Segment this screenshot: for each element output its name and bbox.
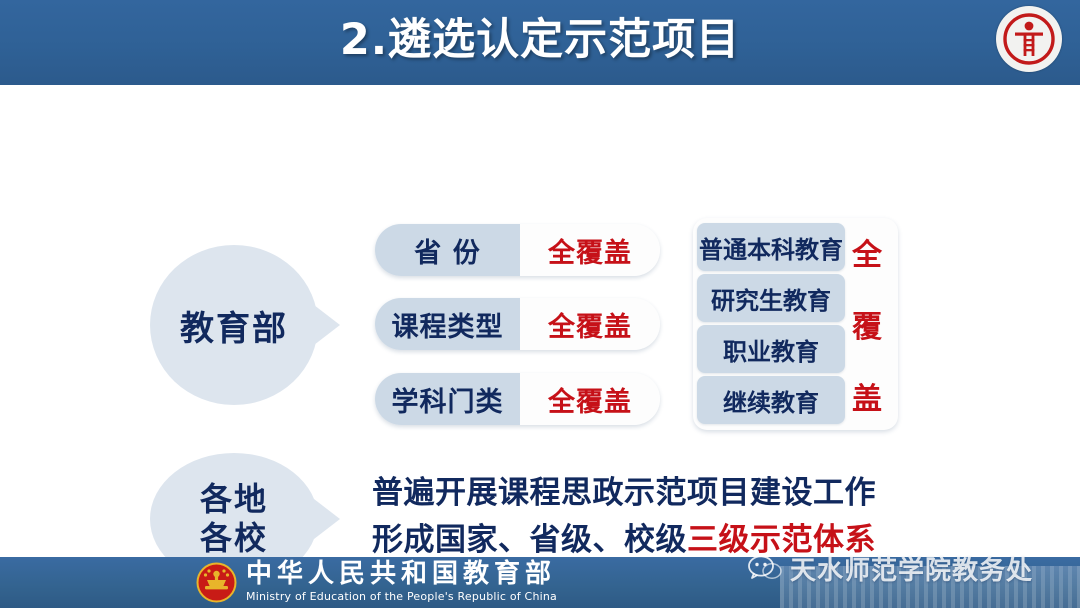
ministry-bubble-label: 教育部 <box>180 301 288 350</box>
footer-org-cn: 中华人民共和国教育部 <box>246 559 557 589</box>
slide-header-band: 2.遴选认定示范项目 <box>0 0 1080 85</box>
education-types-group: 普通本科教育 研究生教育 职业教育 继续教育 全 覆 盖 <box>693 218 898 430</box>
coverage-pill: 课程类型 全覆盖 <box>375 298 660 350</box>
slide-footer-band: 中华人民共和国教育部 Ministry of Education of the … <box>0 557 1080 608</box>
coverage-char: 盖 <box>852 374 882 418</box>
local-bubble-line1: 各地 <box>200 480 268 519</box>
coverage-pill: 学科门类 全覆盖 <box>375 373 660 425</box>
coverage-pill: 省 份 全覆盖 <box>375 224 660 276</box>
education-types-coverage-vertical: 全 覆 盖 <box>848 230 886 418</box>
coverage-pill-value: 全覆盖 <box>520 298 660 350</box>
statement-line-2-prefix: 形成国家、省级、校级 <box>372 522 687 558</box>
ministry-bubble: 教育部 <box>150 245 318 405</box>
education-type-item: 研究生教育 <box>697 274 845 322</box>
statement-line-1: 普遍开展课程思政示范项目建设工作 <box>372 470 892 517</box>
footer-org-en: Ministry of Education of the People's Re… <box>246 589 557 605</box>
education-type-item: 职业教育 <box>697 325 845 373</box>
coverage-pill-label: 课程类型 <box>375 298 520 350</box>
coverage-char: 全 <box>852 230 882 274</box>
footer-org-block: 中华人民共和国教育部 Ministry of Education of the … <box>246 559 557 605</box>
education-types-list: 普通本科教育 研究生教育 职业教育 继续教育 <box>697 223 845 427</box>
education-type-item: 继续教育 <box>697 376 845 424</box>
page-title: 2.遴选认定示范项目 <box>0 4 1080 76</box>
national-emblem-icon <box>196 562 237 603</box>
coverage-pill-label: 学科门类 <box>375 373 520 425</box>
coverage-pill-value: 全覆盖 <box>520 224 660 276</box>
local-bubble-line2: 各校 <box>200 519 268 558</box>
coverage-pill-label: 省 份 <box>375 224 520 276</box>
statement-block: 普遍开展课程思政示范项目建设工作 形成国家、省级、校级三级示范体系 <box>372 470 892 564</box>
statement-line-2-highlight: 三级示范体系 <box>687 522 876 558</box>
presentation-slide: 2.遴选认定示范项目 教育部 省 份 全覆盖 课 <box>0 0 1080 608</box>
slide-body: 教育部 省 份 全覆盖 课程类型 全覆盖 学科门类 全覆盖 普通本科教育 研究生… <box>0 85 1080 557</box>
institution-emblem-icon <box>996 6 1062 72</box>
coverage-pill-value: 全覆盖 <box>520 373 660 425</box>
education-type-item: 普通本科教育 <box>697 223 845 271</box>
coverage-char: 覆 <box>852 302 882 346</box>
